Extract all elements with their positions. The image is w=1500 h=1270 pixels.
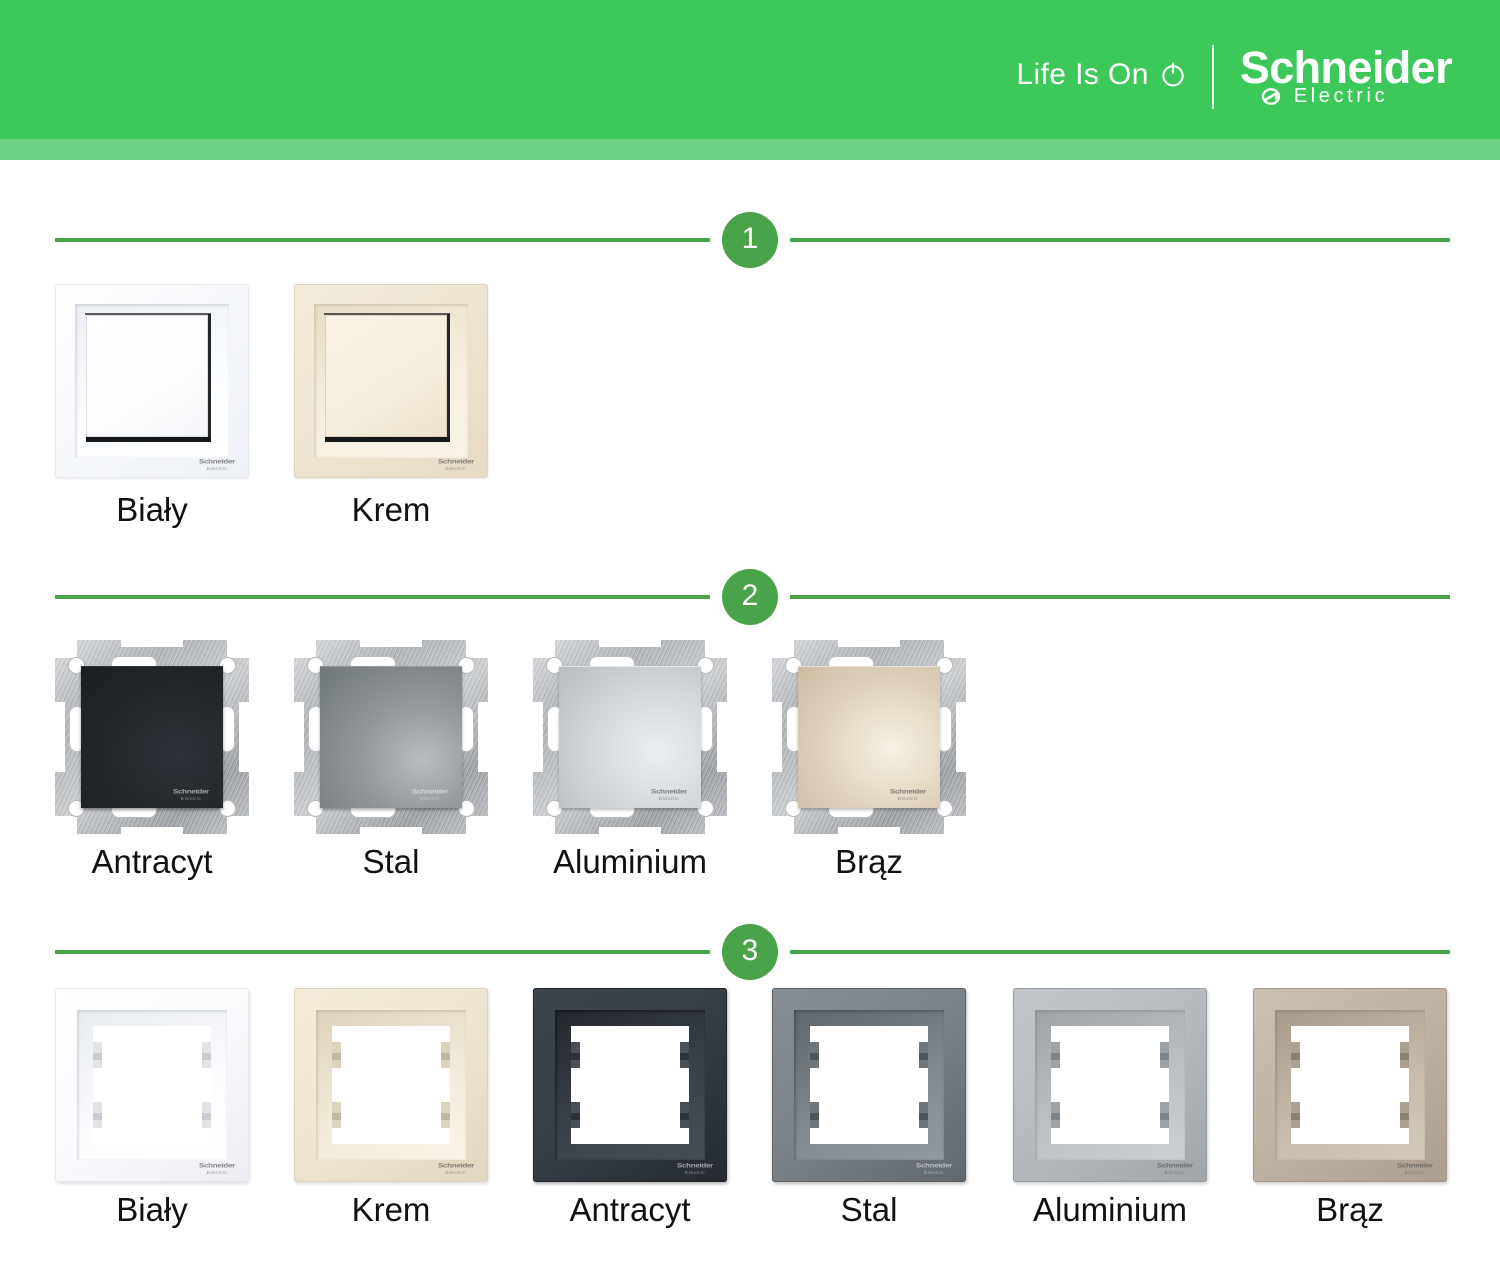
section-divider-1: 1 — [0, 212, 1500, 268]
mount-clip — [202, 1042, 211, 1068]
mount-clip — [680, 1042, 689, 1068]
mount-clip — [919, 1102, 928, 1128]
divider-line-left — [55, 950, 710, 954]
section-badge-1: 1 — [722, 212, 778, 268]
frame-body: Schneider Electric — [533, 988, 727, 1182]
frame-aperture — [93, 1026, 211, 1144]
claw-cutout — [478, 702, 488, 772]
claw-cutout — [599, 640, 661, 647]
mount-clip — [93, 1042, 102, 1068]
mount-clip-nub — [1160, 1053, 1169, 1060]
brand-sub-row: Electric — [1262, 85, 1388, 108]
rocker-plate[interactable] — [86, 315, 208, 437]
frame-body: Schneider Electric — [1253, 988, 1447, 1182]
mount-clip — [441, 1042, 450, 1068]
product-label: Stal — [363, 843, 420, 881]
product-brand-mark: Schneider Electric — [646, 788, 692, 802]
mount-clip-nub — [93, 1053, 102, 1060]
mount-clip-nub — [1160, 1113, 1169, 1120]
mount-clip — [93, 1102, 102, 1128]
rocker-bottom-shadow — [86, 437, 211, 442]
frame-aperture — [1051, 1026, 1169, 1144]
claw-cutout — [705, 640, 727, 658]
section-divider-3: 3 — [0, 924, 1500, 980]
mount-clip-nub — [919, 1053, 928, 1060]
frame-aperture — [810, 1026, 928, 1144]
claw-cutout — [121, 640, 183, 647]
product-mechanism-antracyt[interactable]: Schneider Electric Antracyt — [55, 640, 249, 890]
mount-clip-nub — [810, 1053, 819, 1060]
mount-clip-nub — [919, 1113, 928, 1120]
mount-clip-nub — [1051, 1053, 1060, 1060]
mount-clip — [680, 1102, 689, 1128]
frame-aperture — [571, 1026, 689, 1144]
mount-clip — [1400, 1042, 1409, 1068]
claw-cutout — [360, 827, 422, 834]
mount-clip — [1291, 1042, 1300, 1068]
schneider-electric-mark-icon — [1262, 88, 1288, 105]
product-mechanism-braz[interactable]: Schneider Electric Brąz — [772, 640, 966, 890]
divider-line-right — [790, 950, 1450, 954]
mount-clip-nub — [680, 1053, 689, 1060]
claw-cutout — [533, 640, 555, 658]
claw-cutout — [466, 640, 488, 658]
product-frame-antracyt[interactable]: Schneider Electric Antracyt — [533, 988, 727, 1238]
mount-clip — [571, 1102, 580, 1128]
switch-rocker-assembly[interactable] — [86, 315, 208, 437]
frame-body: Schneider Electric — [55, 988, 249, 1182]
claw-cutout — [599, 827, 661, 834]
product-brand-mark-line2: Electric — [885, 797, 931, 801]
claw-cutout — [533, 702, 543, 772]
section-2-items: Schneider Electric Antracyt — [0, 640, 1500, 900]
switch-body: Schneider Electric — [294, 284, 488, 478]
brand-divider — [1212, 45, 1214, 109]
tagline-text: Life Is On — [1016, 58, 1148, 92]
switch-body: Schneider Electric — [55, 284, 249, 478]
product-frame-krem[interactable]: Schneider Electric Krem — [294, 988, 488, 1238]
rocker-cap[interactable]: Schneider Electric — [81, 666, 223, 808]
product-brand-mark-line1: Schneider — [885, 789, 931, 796]
product-frame-bialy[interactable]: Schneider Electric Biały — [55, 988, 249, 1238]
product-label: Stal — [841, 1191, 898, 1229]
section-divider-2: 2 — [0, 569, 1500, 625]
header-light-green-strip — [0, 139, 1500, 160]
claw-cutout — [360, 640, 422, 647]
brand-lockup: Life Is On Schneider Electric — [1016, 44, 1452, 110]
mechanism-body: Schneider Electric — [772, 640, 966, 834]
product-label: Brąz — [1316, 1191, 1384, 1229]
mount-clip-nub — [332, 1053, 341, 1060]
product-label: Krem — [352, 491, 431, 529]
product-brand-mark: Schneider Electric — [407, 788, 453, 802]
claw-cutout — [838, 827, 900, 834]
product-mechanism-stal[interactable]: Schneider Electric Stal — [294, 640, 488, 890]
rocker-right-shadow — [208, 314, 211, 442]
mount-clip — [332, 1102, 341, 1128]
product-mechanism-aluminium[interactable]: Schneider Electric Aluminium — [533, 640, 727, 890]
mount-clip — [810, 1042, 819, 1068]
product-frame-aluminium[interactable]: Schneider Electric Aluminium — [1013, 988, 1207, 1238]
page-header: Life Is On Schneider Electric — [0, 0, 1500, 160]
mount-clip — [1400, 1102, 1409, 1128]
schneider-electric-logo: Schneider Electric — [1240, 46, 1452, 107]
frame-aperture — [1291, 1026, 1409, 1144]
mount-clip — [1160, 1102, 1169, 1128]
product-switch-krem[interactable]: Schneider Electric Krem — [294, 284, 488, 534]
claw-cutout — [944, 640, 966, 658]
rocker-cap[interactable]: Schneider Electric — [798, 666, 940, 808]
mechanism-body: Schneider Electric — [294, 640, 488, 834]
mount-clip-nub — [441, 1053, 450, 1060]
product-brand-mark-line2: Electric — [407, 797, 453, 801]
product-brand-mark-line1: Schneider — [646, 789, 692, 796]
mount-clip — [441, 1102, 450, 1128]
claw-cutout — [772, 816, 794, 834]
claw-cutout — [227, 640, 249, 658]
mount-clip-nub — [441, 1113, 450, 1120]
mount-clip — [810, 1102, 819, 1128]
product-brand-mark-line2: Electric — [168, 797, 214, 801]
rocker-bottom-shadow — [325, 437, 450, 442]
product-label: Antracyt — [569, 1191, 690, 1229]
mount-clip — [919, 1042, 928, 1068]
claw-cutout — [294, 640, 316, 658]
mechanism-body: Schneider Electric — [55, 640, 249, 834]
claw-cutout — [717, 702, 727, 772]
mount-clip — [202, 1102, 211, 1128]
rocker-right-shadow — [447, 314, 450, 442]
claw-cutout — [533, 816, 555, 834]
mount-clip — [1160, 1042, 1169, 1068]
mount-clip — [1051, 1102, 1060, 1128]
mount-clip — [332, 1042, 341, 1068]
claw-cutout — [294, 702, 304, 772]
claw-cutout — [121, 827, 183, 834]
mount-clip — [571, 1042, 580, 1068]
product-brand-mark: Schneider Electric — [885, 788, 931, 802]
claw-cutout — [772, 640, 794, 658]
product-frame-braz[interactable]: Schneider Electric Brąz — [1253, 988, 1447, 1238]
mount-clip-nub — [202, 1113, 211, 1120]
section-1-items: Schneider Electric Biały Schneider Elect… — [0, 284, 1500, 544]
claw-cutout — [838, 640, 900, 647]
mount-clip-nub — [1400, 1113, 1409, 1120]
mount-clip-nub — [93, 1113, 102, 1120]
product-label: Biały — [116, 491, 188, 529]
mount-clip-nub — [202, 1053, 211, 1060]
claw-cutout — [239, 702, 249, 772]
brand-name: Schneider — [1240, 46, 1452, 89]
claw-cutout — [55, 640, 77, 658]
mount-clip-nub — [332, 1113, 341, 1120]
claw-cutout — [944, 816, 966, 834]
frame-body: Schneider Electric — [772, 988, 966, 1182]
mount-clip-nub — [1400, 1053, 1409, 1060]
section-badge-3: 3 — [722, 924, 778, 980]
claw-cutout — [227, 816, 249, 834]
mount-clip-nub — [810, 1113, 819, 1120]
product-switch-bialy[interactable]: Schneider Electric Biały — [55, 284, 249, 534]
mount-clip-nub — [571, 1113, 580, 1120]
rocker-cap[interactable]: Schneider Electric — [559, 666, 701, 808]
mount-clip-nub — [680, 1113, 689, 1120]
product-label: Krem — [352, 1191, 431, 1229]
divider-line-right — [790, 238, 1450, 242]
mount-clip — [1051, 1042, 1060, 1068]
section-3-items: Schneider Electric Biały Schneider Elect… — [0, 988, 1500, 1248]
claw-cutout — [55, 702, 65, 772]
claw-cutout — [705, 816, 727, 834]
claw-cutout — [466, 816, 488, 834]
product-label: Brąz — [835, 843, 903, 881]
claw-cutout — [772, 702, 782, 772]
rocker-cap[interactable]: Schneider Electric — [320, 666, 462, 808]
frame-body: Schneider Electric — [294, 988, 488, 1182]
frame-aperture — [332, 1026, 450, 1144]
mount-clip-nub — [1291, 1053, 1300, 1060]
product-label: Aluminium — [1033, 1191, 1187, 1229]
mount-clip-nub — [1291, 1113, 1300, 1120]
product-label: Antracyt — [91, 843, 212, 881]
power-icon — [1158, 60, 1188, 90]
switch-rocker-assembly[interactable] — [325, 315, 447, 437]
divider-line-right — [790, 595, 1450, 599]
product-label: Biały — [116, 1191, 188, 1229]
claw-cutout — [294, 816, 316, 834]
product-brand-mark: Schneider Electric — [168, 788, 214, 802]
product-label: Aluminium — [553, 843, 707, 881]
mount-clip — [1291, 1102, 1300, 1128]
product-brand-mark-line2: Electric — [646, 797, 692, 801]
mount-clip-nub — [1051, 1113, 1060, 1120]
product-brand-mark-line1: Schneider — [407, 789, 453, 796]
claw-cutout — [956, 702, 966, 772]
frame-body: Schneider Electric — [1013, 988, 1207, 1182]
section-badge-2: 2 — [722, 569, 778, 625]
product-frame-stal[interactable]: Schneider Electric Stal — [772, 988, 966, 1238]
divider-line-left — [55, 595, 710, 599]
divider-line-left — [55, 238, 710, 242]
brand-sub: Electric — [1294, 85, 1388, 108]
claw-cutout — [55, 816, 77, 834]
mechanism-body: Schneider Electric — [533, 640, 727, 834]
tagline: Life Is On — [1016, 58, 1187, 96]
product-brand-mark-line1: Schneider — [168, 789, 214, 796]
rocker-plate[interactable] — [325, 315, 447, 437]
mount-clip-nub — [571, 1053, 580, 1060]
